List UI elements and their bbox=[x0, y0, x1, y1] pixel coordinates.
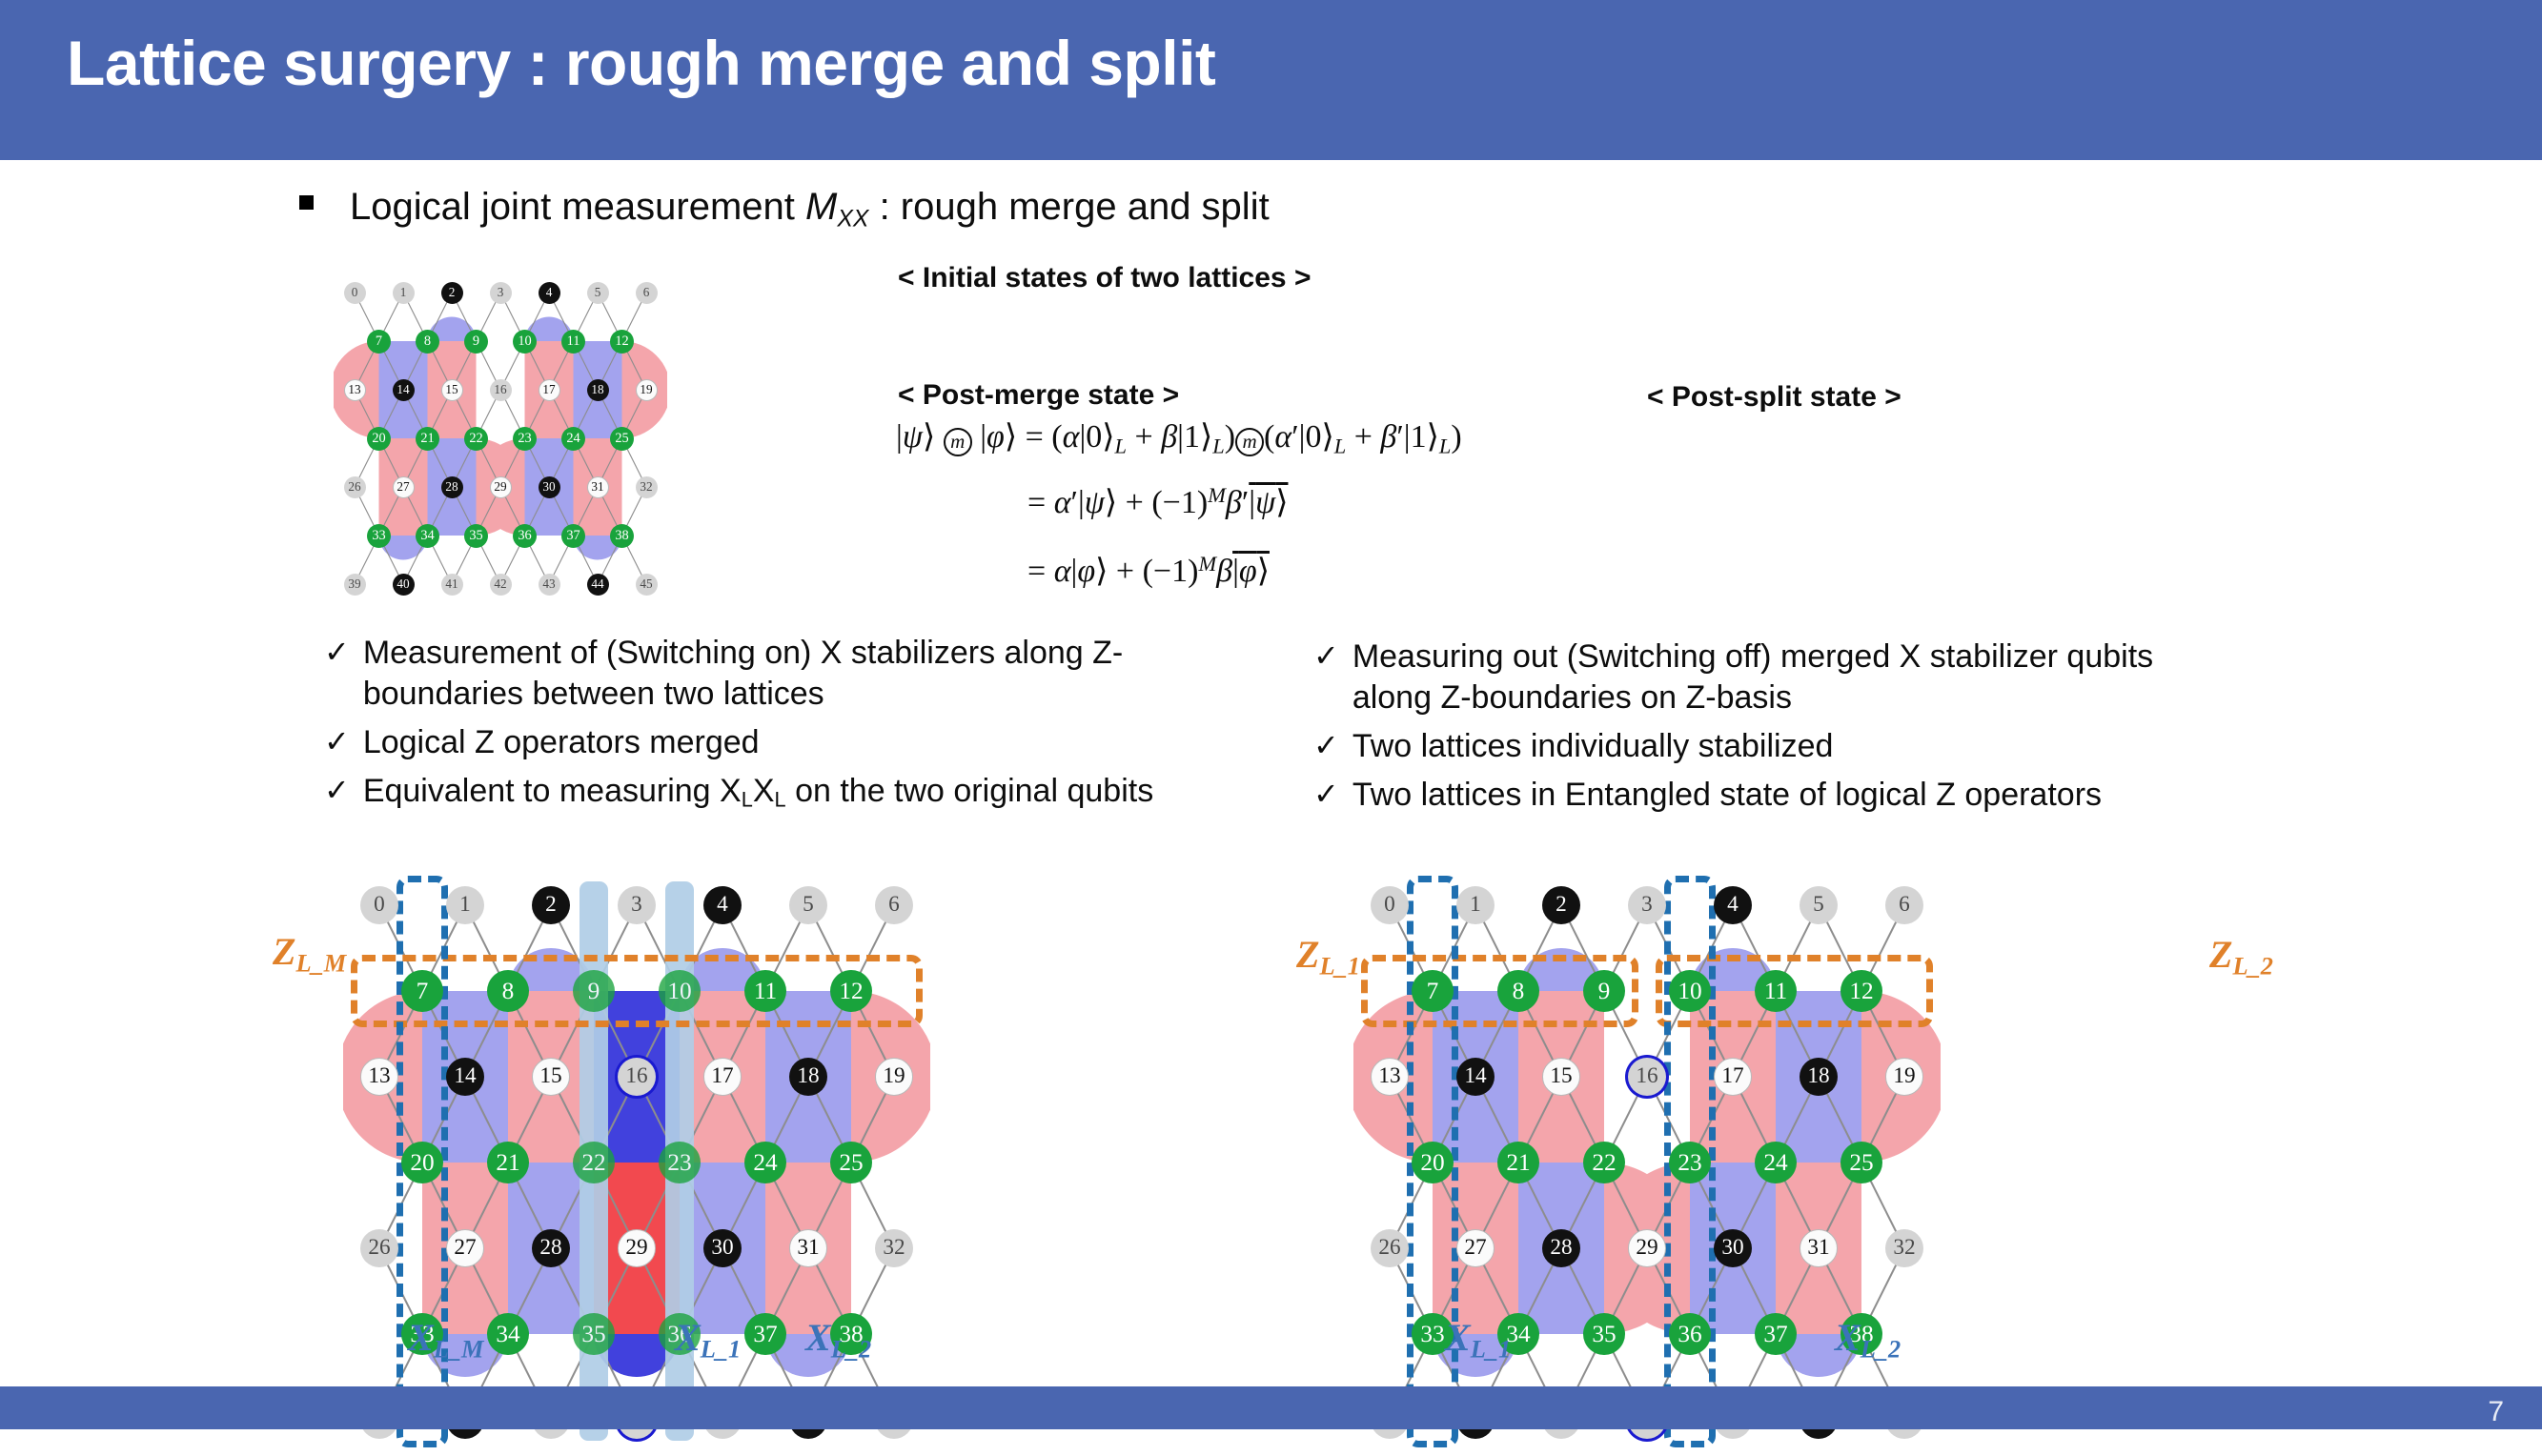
lattice-node-24[interactable]: 24 bbox=[561, 427, 585, 451]
lattice-node-9[interactable]: 9 bbox=[464, 330, 488, 354]
list-item: ✓ Two lattices individually stabilized bbox=[1313, 730, 2247, 765]
lattice-node-7[interactable]: 7 bbox=[1412, 970, 1454, 1012]
lattice-node-11[interactable]: 11 bbox=[1755, 970, 1797, 1012]
lattice-node-6[interactable]: 6 bbox=[1885, 886, 1923, 924]
lattice-node-35[interactable]: 35 bbox=[573, 1313, 615, 1355]
merge-operator-icon: m bbox=[944, 428, 972, 456]
lattice-node-27[interactable]: 27 bbox=[1456, 1229, 1495, 1267]
lattice-node-29[interactable]: 29 bbox=[490, 476, 512, 498]
lattice-node-8[interactable]: 8 bbox=[487, 970, 529, 1012]
lattice-node-9[interactable]: 9 bbox=[573, 970, 615, 1012]
lattice-node-14[interactable]: 14 bbox=[1456, 1058, 1495, 1096]
lattice-node-21[interactable]: 21 bbox=[487, 1142, 529, 1183]
lattice-node-8[interactable]: 8 bbox=[416, 330, 439, 354]
lattice-node-13[interactable]: 13 bbox=[360, 1058, 398, 1096]
list-item-line: Measuring out (Switching off) merged X s… bbox=[1352, 640, 2247, 681]
page-title: Lattice surgery : rough merge and split bbox=[67, 27, 1215, 99]
list-item-line: Equivalent to measuring XLXL on the two … bbox=[363, 775, 1201, 813]
list-item-line: Two lattices individually stabilized bbox=[1352, 730, 2247, 765]
lattice-node-35[interactable]: 35 bbox=[1583, 1313, 1625, 1355]
lattice-node-11[interactable]: 11 bbox=[561, 330, 585, 354]
lattice-node-35[interactable]: 35 bbox=[464, 524, 488, 548]
lattice-node-18[interactable]: 18 bbox=[789, 1058, 827, 1096]
lattice-node-19[interactable]: 19 bbox=[875, 1058, 913, 1096]
lattice-node-0[interactable]: 0 bbox=[1371, 886, 1409, 924]
lattice-node-23[interactable]: 23 bbox=[1669, 1142, 1711, 1183]
lattice-node-13[interactable]: 13 bbox=[344, 379, 366, 401]
lattice-node-42[interactable]: 42 bbox=[490, 574, 512, 596]
lattice-node-12[interactable]: 12 bbox=[1840, 970, 1882, 1012]
lattice-node-1[interactable]: 1 bbox=[1456, 886, 1495, 924]
list-item: ✓ Measurement of (Switching on) X stabil… bbox=[324, 637, 1201, 713]
lattice-node-37[interactable]: 37 bbox=[744, 1313, 786, 1355]
lattice-node-34[interactable]: 34 bbox=[416, 524, 439, 548]
equation-line-3: = α|φ⟩ + (−1)Mβ|φ⟩ bbox=[1027, 552, 1270, 590]
lattice-post-merge: 0123456789101112131415161718192021222324… bbox=[343, 869, 930, 1456]
top-bullet-row: Logical joint measurement MXX : rough me… bbox=[299, 186, 1270, 233]
lattice-node-20[interactable]: 20 bbox=[1412, 1142, 1454, 1183]
lattice-node-22[interactable]: 22 bbox=[464, 427, 488, 451]
lattice-node-12[interactable]: 12 bbox=[610, 330, 634, 354]
lattice-initial-two-lattices: 0123456789101112131415161718192021222324… bbox=[334, 272, 667, 605]
lattice-node-17[interactable]: 17 bbox=[539, 379, 560, 401]
lattice-node-36[interactable]: 36 bbox=[1669, 1313, 1711, 1355]
lattice-node-23[interactable]: 23 bbox=[513, 427, 537, 451]
lattice-node-32[interactable]: 32 bbox=[875, 1229, 913, 1267]
lattice-node-25[interactable]: 25 bbox=[1840, 1142, 1882, 1183]
lattice-node-18[interactable]: 18 bbox=[1800, 1058, 1838, 1096]
lattice-node-3[interactable]: 3 bbox=[1628, 886, 1666, 924]
lattice-node-32[interactable]: 32 bbox=[636, 476, 658, 498]
lattice-node-21[interactable]: 21 bbox=[1497, 1142, 1539, 1183]
lattice-node-39[interactable]: 39 bbox=[344, 574, 366, 596]
lattice-node-30[interactable]: 30 bbox=[1714, 1229, 1752, 1267]
lattice-node-5[interactable]: 5 bbox=[789, 886, 827, 924]
lattice-node-15[interactable]: 15 bbox=[1542, 1058, 1580, 1096]
check-icon: ✓ bbox=[324, 637, 350, 713]
lattice-node-10[interactable]: 10 bbox=[1669, 970, 1711, 1012]
z-operator-label-l1-split: ZL_1 bbox=[1296, 932, 1360, 981]
lattice-node-20[interactable]: 20 bbox=[401, 1142, 443, 1183]
lattice-node-5[interactable]: 5 bbox=[1800, 886, 1838, 924]
caption-post-merge: < Post-merge state > bbox=[898, 379, 1179, 412]
lattice-node-10[interactable]: 10 bbox=[659, 970, 701, 1012]
lattice-node-16[interactable]: 16 bbox=[618, 1058, 656, 1096]
lattice-node-19[interactable]: 19 bbox=[1885, 1058, 1923, 1096]
lattice-node-28[interactable]: 28 bbox=[532, 1229, 570, 1267]
z-operator-label-l2-split: ZL_2 bbox=[2209, 932, 2273, 981]
square-bullet-icon bbox=[299, 195, 314, 210]
x-operator-label-l1-merged: XL_1 bbox=[675, 1315, 741, 1364]
list-item: ✓ Measuring out (Switching off) merged X… bbox=[1313, 640, 2247, 717]
lattice-node-36[interactable]: 36 bbox=[513, 524, 537, 548]
check-icon: ✓ bbox=[324, 775, 350, 813]
lattice-node-16[interactable]: 16 bbox=[1628, 1058, 1666, 1096]
check-icon: ✓ bbox=[1313, 640, 1339, 717]
list-item: ✓ Logical Z operators merged bbox=[324, 726, 1201, 761]
lattice-node-14[interactable]: 14 bbox=[393, 379, 415, 401]
lattice-node-4[interactable]: 4 bbox=[1714, 886, 1752, 924]
lattice-node-4[interactable]: 4 bbox=[539, 282, 560, 304]
lattice-node-1[interactable]: 1 bbox=[446, 886, 484, 924]
list-item: ✓ Two lattices in Entangled state of log… bbox=[1313, 779, 2247, 814]
lattice-node-7[interactable]: 7 bbox=[401, 970, 443, 1012]
x-operator-label-l1-split: XL_1 bbox=[1445, 1315, 1511, 1364]
lattice-node-1[interactable]: 1 bbox=[393, 282, 415, 304]
lattice-node-31[interactable]: 31 bbox=[1800, 1229, 1838, 1267]
lattice-node-34[interactable]: 34 bbox=[487, 1313, 529, 1355]
page-number: 7 bbox=[2488, 1396, 2504, 1428]
lattice-node-12[interactable]: 12 bbox=[830, 970, 872, 1012]
lattice-node-2[interactable]: 2 bbox=[1542, 886, 1580, 924]
list-item-line: along Z-boundaries on Z-basis bbox=[1352, 681, 2247, 717]
check-icon: ✓ bbox=[324, 726, 350, 761]
lattice-node-22[interactable]: 22 bbox=[1583, 1142, 1625, 1183]
list-item-line: Measurement of (Switching on) X stabiliz… bbox=[363, 637, 1201, 677]
list-item-line: boundaries between two lattices bbox=[363, 677, 1201, 713]
lattice-node-3[interactable]: 3 bbox=[490, 282, 512, 304]
lattice-node-25[interactable]: 25 bbox=[610, 427, 634, 451]
equation-line-2: = α′|ψ⟩ + (−1)Mβ′|ψ⟩ bbox=[1027, 483, 1288, 521]
lattice-node-4[interactable]: 4 bbox=[703, 886, 742, 924]
lattice-node-8[interactable]: 8 bbox=[1497, 970, 1539, 1012]
lattice-node-21[interactable]: 21 bbox=[416, 427, 439, 451]
lattice-node-29[interactable]: 29 bbox=[618, 1229, 656, 1267]
lattice-node-30[interactable]: 30 bbox=[703, 1229, 742, 1267]
lattice-node-10[interactable]: 10 bbox=[513, 330, 537, 354]
lattice-node-23[interactable]: 23 bbox=[659, 1142, 701, 1183]
lattice-node-28[interactable]: 28 bbox=[1542, 1229, 1580, 1267]
caption-post-split: < Post-split state > bbox=[1647, 381, 1901, 414]
lattice-node-24[interactable]: 24 bbox=[1755, 1142, 1797, 1183]
lattice-node-15[interactable]: 15 bbox=[441, 379, 463, 401]
lattice-node-22[interactable]: 22 bbox=[573, 1142, 615, 1183]
list-item: ✓ Equivalent to measuring XLXL on the tw… bbox=[324, 775, 1201, 813]
lattice-node-30[interactable]: 30 bbox=[539, 476, 560, 498]
checklist-merge: ✓ Measurement of (Switching on) X stabil… bbox=[324, 637, 1201, 826]
lattice-node-14[interactable]: 14 bbox=[446, 1058, 484, 1096]
lattice-node-26[interactable]: 26 bbox=[360, 1229, 398, 1267]
x-operator-label-l2-split: XL_2 bbox=[1835, 1315, 1901, 1364]
lattice-node-5[interactable]: 5 bbox=[587, 282, 609, 304]
lattice-node-17[interactable]: 17 bbox=[703, 1058, 742, 1096]
lattice-node-6[interactable]: 6 bbox=[875, 886, 913, 924]
lattice-node-18[interactable]: 18 bbox=[587, 379, 609, 401]
lattice-node-26[interactable]: 26 bbox=[1371, 1229, 1409, 1267]
merge-operator-icon-2: m bbox=[1235, 428, 1264, 456]
lattice-node-29[interactable]: 29 bbox=[1628, 1229, 1666, 1267]
lattice-node-31[interactable]: 31 bbox=[587, 476, 609, 498]
lattice-node-2[interactable]: 2 bbox=[441, 282, 463, 304]
lattice-node-32[interactable]: 32 bbox=[1885, 1229, 1923, 1267]
lattice-node-25[interactable]: 25 bbox=[830, 1142, 872, 1183]
x-operator-label-merged: XL_M bbox=[408, 1315, 483, 1364]
check-icon: ✓ bbox=[1313, 779, 1339, 814]
lattice-node-27[interactable]: 27 bbox=[393, 476, 415, 498]
lattice-node-0[interactable]: 0 bbox=[344, 282, 366, 304]
lattice-node-45[interactable]: 45 bbox=[636, 574, 658, 596]
lattice-node-28[interactable]: 28 bbox=[441, 476, 463, 498]
check-icon: ✓ bbox=[1313, 730, 1339, 765]
list-item-line: Logical Z operators merged bbox=[363, 726, 1201, 761]
lattice-node-24[interactable]: 24 bbox=[744, 1142, 786, 1183]
lattice-node-7[interactable]: 7 bbox=[367, 330, 391, 354]
lattice-node-2[interactable]: 2 bbox=[532, 886, 570, 924]
lattice-node-37[interactable]: 37 bbox=[561, 524, 585, 548]
lattice-node-27[interactable]: 27 bbox=[446, 1229, 484, 1267]
lattice-node-0[interactable]: 0 bbox=[360, 886, 398, 924]
bullet-text: Logical joint measurement MXX : rough me… bbox=[350, 186, 1270, 233]
lattice-node-41[interactable]: 41 bbox=[441, 574, 463, 596]
checklist-split: ✓ Measuring out (Switching off) merged X… bbox=[1313, 640, 2247, 827]
lattice-post-split: 0123456789101112131415161718192021222324… bbox=[1353, 869, 1941, 1456]
lattice-node-33[interactable]: 33 bbox=[367, 524, 391, 548]
lattice-node-3[interactable]: 3 bbox=[618, 886, 656, 924]
lattice-node-44[interactable]: 44 bbox=[587, 574, 609, 596]
x-operator-label-l2-merged: XL_2 bbox=[805, 1315, 871, 1364]
list-item-line: Two lattices in Entangled state of logic… bbox=[1352, 779, 2247, 814]
lattice-node-31[interactable]: 31 bbox=[789, 1229, 827, 1267]
lattice-node-16[interactable]: 16 bbox=[490, 379, 512, 401]
lattice-node-13[interactable]: 13 bbox=[1371, 1058, 1409, 1096]
slide-footer-bar bbox=[0, 1386, 2542, 1429]
lattice-node-11[interactable]: 11 bbox=[744, 970, 786, 1012]
lattice-node-38[interactable]: 38 bbox=[610, 524, 634, 548]
lattice-node-17[interactable]: 17 bbox=[1714, 1058, 1752, 1096]
z-operator-label-merged: ZL_M bbox=[273, 929, 346, 978]
lattice-node-26[interactable]: 26 bbox=[344, 476, 366, 498]
lattice-node-9[interactable]: 9 bbox=[1583, 970, 1625, 1012]
lattice-node-15[interactable]: 15 bbox=[532, 1058, 570, 1096]
lattice-node-40[interactable]: 40 bbox=[393, 574, 415, 596]
lattice-node-20[interactable]: 20 bbox=[367, 427, 391, 451]
lattice-node-37[interactable]: 37 bbox=[1755, 1313, 1797, 1355]
lattice-node-6[interactable]: 6 bbox=[636, 282, 658, 304]
lattice-node-43[interactable]: 43 bbox=[539, 574, 560, 596]
caption-initial-states: < Initial states of two lattices > bbox=[898, 262, 1311, 294]
equation-line-1: |ψ⟩ m |φ⟩ = (α|0⟩L + β|1⟩L)m(α′|0⟩L + β′… bbox=[896, 417, 1462, 459]
lattice-node-19[interactable]: 19 bbox=[636, 379, 658, 401]
